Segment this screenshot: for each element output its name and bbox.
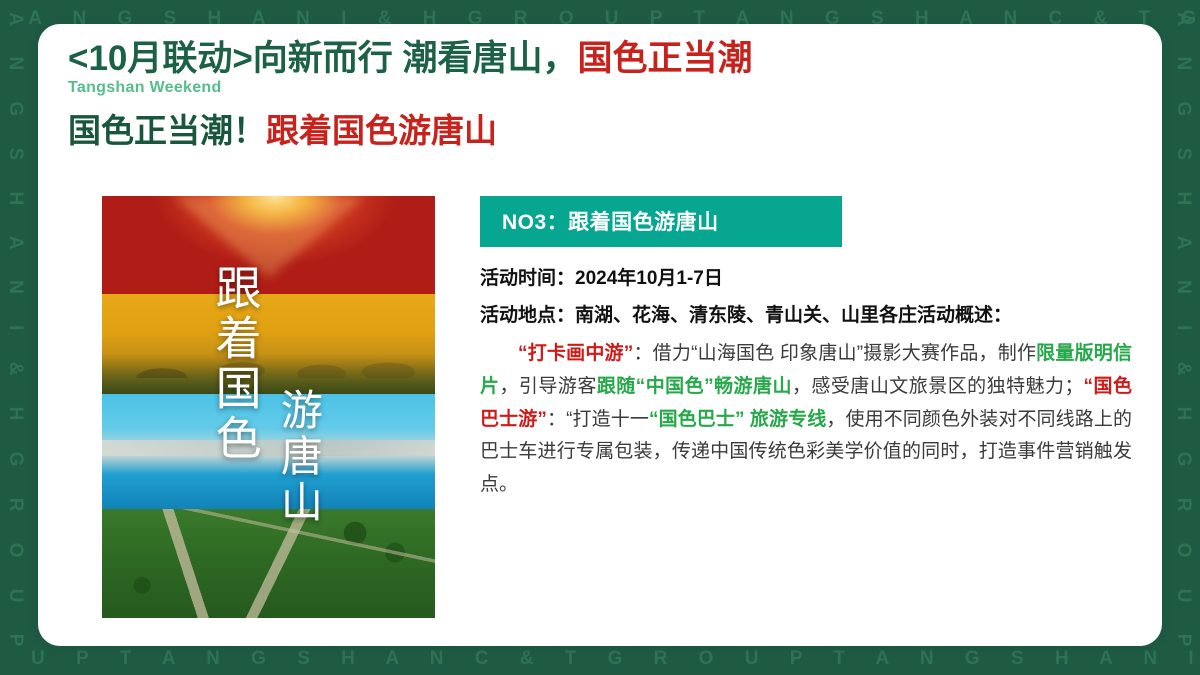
activity-place-label: 活动地点： [480,305,575,326]
activity-place-line: 活动地点：南湖、花海、清东陵、青山关、山里各庄活动概述： [480,303,1132,329]
page-title: <10月联动>向新而行 潮看唐山，国色正当潮 [68,38,1128,81]
pagoda-roof-silhouette [102,326,435,378]
description-run-0: “打卡画中游” [518,343,633,364]
watermark-text-bottom: R O U P T A N G S H A N C & T G R O U P … [0,648,1200,670]
poster-v-shape [173,196,365,278]
section-title: 国色正当潮！跟着国色游唐山 [68,111,1128,151]
content-card: <10月联动>向新而行 潮看唐山，国色正当潮 Tangshan Weekend … [38,24,1162,646]
page-title-part-1: <10月联动>向新而行 潮看唐山， [68,39,578,78]
poster-text-column-a: 跟着国色 [210,264,260,464]
section-number-banner: NO3：跟着国色游唐山 [480,196,842,247]
watermark-text-right: T A N G S H A N I & H G R O U P T A N G [1172,0,1194,675]
details-column: NO3：跟着国色游唐山 活动时间：2024年10月1-7日 活动地点：南湖、花海… [480,196,1132,502]
section-title-part-2: 跟着国色游唐山 [266,112,497,149]
poster-text-column-b: 游唐山 [276,388,321,526]
activity-time-value: 2024年10月1-7日 [575,268,723,289]
page-title-part-2: 国色正当潮 [578,39,753,78]
poster-image: 跟着国色 游唐山 [102,196,435,618]
slide-root: G T A N G S H A N I & H G R O U P T A N … [0,0,1200,675]
activity-time-label: 活动时间： [480,268,575,289]
watermark-text-left: T A N G S H A N I & H G R O U P T A N [4,0,26,675]
poster-band-green [102,509,435,618]
subtitle-english: Tangshan Weekend [68,79,1128,97]
description-run-8: “国色巴士” 旅游专线 [649,409,826,430]
field-paths [102,509,435,618]
heading-block: <10月联动>向新而行 潮看唐山，国色正当潮 Tangshan Weekend … [68,38,1128,150]
poster-band-yellow [102,294,435,394]
section-title-part-1: 国色正当潮！ [68,112,266,149]
poster-band-red [102,196,435,294]
poster-band-blue [102,394,435,509]
activity-place-value: 南湖、花海、清东陵、青山关、山里各庄活动概述： [575,305,1012,326]
activity-time-line: 活动时间：2024年10月1-7日 [480,266,1132,292]
description-run-3: ，引导游客 [499,376,596,397]
description-run-7: ：“打造十一 [547,409,649,430]
description-run-5: ，感受唐山文旅景区的独特魅力； [792,376,1084,397]
description-run-4: 跟随“中国色”畅游唐山 [597,376,792,397]
activity-description: “打卡画中游”：借力“山海国色 印象唐山”摄影大赛作品，制作限量版明信片，引导游… [480,338,1132,501]
description-run-1: ：借力“山海国色 印象唐山”摄影大赛作品，制作 [633,343,1036,364]
